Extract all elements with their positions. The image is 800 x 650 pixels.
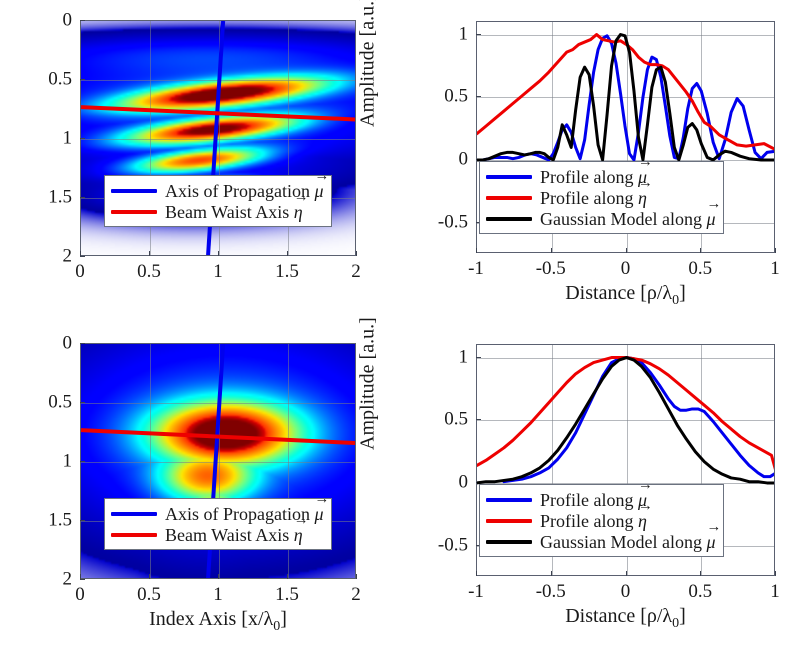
x-axis-title: Distance [ρ/λ0]	[565, 606, 686, 631]
x-tick-label: 1.5	[275, 262, 299, 281]
legend-color-swatch-blue	[486, 498, 532, 502]
legend: Axis of Propagation →μBeam Waist Axis →η	[104, 175, 332, 227]
legend: Profile along →μProfile along →ηGaussian…	[479, 161, 724, 234]
legend-item: Beam Waist Axis →η	[111, 524, 324, 545]
legend-label-text: Profile along	[540, 511, 638, 531]
legend-item: Profile along →μ	[486, 166, 716, 187]
y-tick-label: 0.5	[48, 393, 72, 412]
y-tick-label: 0.5	[48, 70, 72, 89]
legend-color-swatch-black	[486, 217, 532, 221]
y-tick-label: 2	[63, 570, 73, 589]
y-tick-label: 0	[459, 472, 469, 491]
y-axis-title: Amplitude [a.u.]	[358, 0, 378, 127]
y-tick-label: 1.5	[48, 188, 72, 207]
y-tick-label: 1.5	[48, 511, 72, 530]
legend-item: Beam Waist Axis →η	[111, 201, 324, 222]
legend-label: Beam Waist Axis →η	[165, 526, 303, 544]
x-tick-label: 0	[75, 585, 85, 604]
legend-item: Gaussian Model along →μ	[486, 531, 716, 552]
x-tick-label: 0	[621, 582, 631, 601]
x-tick-label: -0.5	[536, 259, 566, 278]
x-tick-label: 2	[351, 585, 361, 604]
legend-label-text: Profile along	[540, 490, 638, 510]
legend-label: Profile along →μ	[540, 491, 647, 509]
legend-color-swatch-red	[486, 519, 532, 523]
x-tick-mark	[775, 248, 776, 253]
y-tick-label: 2	[63, 247, 73, 266]
legend-item: Axis of Propagation →μ	[111, 503, 324, 524]
y-tick-label: 0	[63, 11, 73, 30]
x-tick-label: -0.5	[536, 582, 566, 601]
x-axis-title: Index Axis [x/λ0]	[149, 609, 287, 634]
x-tick-label: 0	[621, 259, 631, 278]
legend-label-text: Profile along	[540, 188, 638, 208]
legend-label: Profile along →μ	[540, 168, 647, 186]
x-tick-label: 2	[351, 262, 361, 281]
legend-color-swatch-blue	[111, 512, 157, 516]
legend-color-swatch-red	[486, 196, 532, 200]
x-tick-label: -1	[468, 582, 484, 601]
x-tick-label: 1	[770, 259, 780, 278]
legend-item: Profile along →η	[486, 510, 716, 531]
x-tick-label: 1	[213, 262, 223, 281]
x-tick-label: 1	[213, 585, 223, 604]
y-tick-label: 0.5	[444, 410, 468, 429]
legend-label-text: Beam Waist Axis	[165, 525, 294, 545]
y-tick-label: -0.5	[438, 535, 468, 554]
y-tick-label: 1	[63, 452, 73, 471]
legend-label: Profile along →η	[540, 189, 647, 207]
legend: Profile along →μProfile along →ηGaussian…	[479, 484, 724, 557]
y-tick-mark	[80, 256, 85, 257]
legend-item: Profile along →μ	[486, 489, 716, 510]
y-tick-label: 0	[63, 334, 73, 353]
x-tick-label: 0.5	[688, 582, 712, 601]
y-tick-label: 0	[459, 149, 469, 168]
x-tick-mark	[356, 251, 357, 256]
legend-color-swatch-blue	[486, 175, 532, 179]
x-tick-label: 0	[75, 262, 85, 281]
series-line-red	[477, 358, 775, 472]
x-tick-label: 1	[770, 582, 780, 601]
y-tick-label: 0.5	[444, 87, 468, 106]
y-tick-label: 1	[459, 347, 469, 366]
x-tick-label: 0.5	[688, 259, 712, 278]
legend-label-text: Axis of Propagation	[165, 504, 314, 524]
legend-label-text: Axis of Propagation	[165, 181, 314, 201]
legend-color-swatch-black	[486, 540, 532, 544]
x-tick-label: 1.5	[275, 585, 299, 604]
x-tick-label: -1	[468, 259, 484, 278]
y-tick-label: -0.5	[438, 212, 468, 231]
legend-color-swatch-red	[111, 533, 157, 537]
legend-label-text: Beam Waist Axis	[165, 202, 294, 222]
x-tick-mark	[356, 574, 357, 579]
legend-label-text: Gaussian Model along	[540, 209, 706, 229]
legend-label: Gaussian Model along →μ	[540, 210, 716, 228]
legend-label-text: Gaussian Model along	[540, 532, 706, 552]
legend-label: Gaussian Model along →μ	[540, 533, 716, 551]
legend-item: Axis of Propagation →μ	[111, 180, 324, 201]
x-tick-label: 0.5	[137, 262, 161, 281]
y-tick-label: 1	[459, 24, 469, 43]
legend-label: Beam Waist Axis →η	[165, 203, 303, 221]
y-tick-label: 1	[63, 129, 73, 148]
legend-color-swatch-blue	[111, 189, 157, 193]
legend-item: Gaussian Model along →μ	[486, 208, 716, 229]
figure-root: 00.511.5200.511.52Depth Axis [z/λ0]Axis …	[0, 0, 800, 650]
x-tick-mark	[775, 571, 776, 576]
legend-color-swatch-red	[111, 210, 157, 214]
series-line-black	[477, 358, 775, 483]
x-axis-title: Distance [ρ/λ0]	[565, 283, 686, 308]
legend-label: Profile along →η	[540, 512, 647, 530]
legend-label-text: Profile along	[540, 167, 638, 187]
y-tick-mark	[80, 579, 85, 580]
y-axis-title: Amplitude [a.u.]	[358, 317, 378, 450]
legend-item: Profile along →η	[486, 187, 716, 208]
legend: Axis of Propagation →μBeam Waist Axis →η	[104, 498, 332, 550]
x-tick-label: 0.5	[137, 585, 161, 604]
